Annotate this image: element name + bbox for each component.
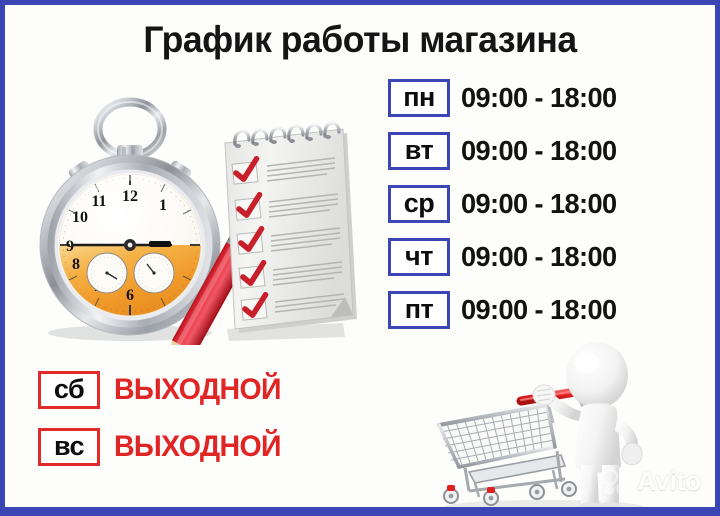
hours-pn: 09:00 - 18:00 (461, 82, 617, 114)
schedule-row: вт 09:00 - 18:00 (388, 124, 678, 177)
day-badge-sb: сб (38, 371, 100, 409)
schedule-row: чт 09:00 - 18:00 (388, 230, 678, 283)
schedule-row: пн 09:00 - 18:00 (388, 71, 678, 124)
schedule-row: сб ВЫХОДНОЙ (38, 361, 358, 418)
schedule-row: ср 09:00 - 18:00 (388, 177, 678, 230)
svg-text:9: 9 (66, 238, 74, 255)
shopper-with-cart-illustration (429, 339, 679, 516)
hours-pt: 09:00 - 18:00 (461, 294, 617, 326)
schedule-row: вс ВЫХОДНОЙ (38, 418, 358, 475)
weekday-schedule-list: пн 09:00 - 18:00 вт 09:00 - 18:00 ср 09:… (388, 71, 678, 336)
svg-text:8: 8 (72, 256, 80, 273)
hours-sb: ВЫХОДНОЙ (114, 373, 281, 407)
hours-sr: 09:00 - 18:00 (461, 188, 617, 220)
svg-text:11: 11 (91, 193, 106, 210)
checklist-notepad-illustration (205, 117, 370, 345)
svg-text:6: 6 (126, 287, 134, 304)
weekend-schedule-list: сб ВЫХОДНОЙ вс ВЫХОДНОЙ (38, 361, 358, 475)
hours-vs: ВЫХОДНОЙ (114, 430, 281, 464)
store-hours-poster: График работы магазина (0, 0, 720, 516)
page-title: График работы магазина (19, 19, 701, 61)
day-badge-cht: чт (388, 238, 450, 276)
day-badge-vt: вт (388, 132, 450, 170)
hours-cht: 09:00 - 18:00 (461, 241, 617, 273)
hours-vt: 09:00 - 18:00 (461, 135, 617, 167)
schedule-row: пт 09:00 - 18:00 (388, 283, 678, 336)
day-badge-pn: пн (388, 79, 450, 117)
day-badge-pt: пт (388, 291, 450, 329)
day-badge-sr: ср (388, 185, 450, 223)
day-badge-vs: вс (38, 428, 100, 466)
svg-text:10: 10 (72, 209, 88, 226)
svg-text:12: 12 (122, 188, 138, 205)
svg-text:1: 1 (159, 197, 167, 214)
